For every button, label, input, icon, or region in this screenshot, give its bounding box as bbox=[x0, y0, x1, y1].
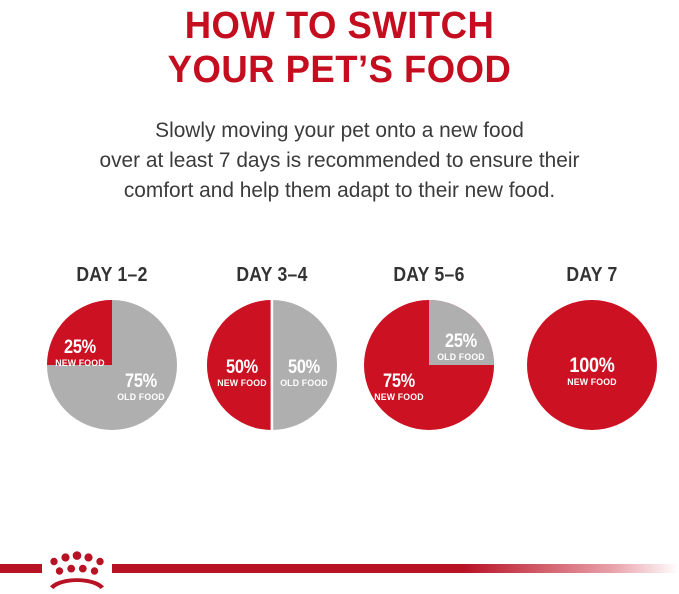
day-label-3: DAY 5–6 bbox=[359, 262, 500, 288]
pie-chart-day-5-6: 25% OLD FOOD 75% NEW FOOD bbox=[364, 300, 494, 430]
pie-chart-day-7: 100% NEW FOOD bbox=[527, 300, 657, 430]
day-label-1: DAY 1–2 bbox=[42, 262, 183, 288]
intro-line-1: Slowly moving your pet onto a new food bbox=[10, 115, 669, 145]
transition-schedule-chart-row: DAY 1–2 25% NEW FOOD 75% OLD FOOD DAY 3–… bbox=[0, 262, 679, 442]
intro-paragraph: Slowly moving your pet onto a new food o… bbox=[10, 115, 669, 205]
pie-chart-day-1-2: 25% NEW FOOD 75% OLD FOOD bbox=[47, 300, 177, 430]
footer-rule-right bbox=[112, 564, 679, 573]
page-title-line-1: HOW TO SWITCH bbox=[185, 5, 495, 47]
intro-line-3: comfort and help them adapt to their new… bbox=[10, 175, 669, 205]
pie-group-day-1-2: DAY 1–2 25% NEW FOOD 75% OLD FOOD bbox=[32, 262, 192, 430]
pie-chart-day-3-4: 50% NEW FOOD 50% OLD FOOD bbox=[207, 300, 337, 430]
slice-new-food bbox=[207, 300, 272, 430]
day-label-4: DAY 7 bbox=[522, 262, 663, 288]
slice-old-food bbox=[429, 300, 494, 365]
footer-rule-left bbox=[0, 564, 42, 573]
crown-logo-svg bbox=[44, 546, 110, 590]
pie-svg-day-3-4 bbox=[207, 300, 337, 430]
slice-new-food bbox=[47, 300, 112, 365]
pie-group-day-3-4: DAY 3–4 50% NEW FOOD 50% OLD FOOD bbox=[192, 262, 352, 430]
page-title: HOW TO SWITCH YOUR PET’S FOOD bbox=[14, 4, 666, 92]
intro-line-2: over at least 7 days is recommended to e… bbox=[10, 145, 669, 175]
footer bbox=[0, 542, 679, 594]
slice-divider bbox=[271, 300, 274, 430]
pie-svg-day-7 bbox=[527, 300, 657, 430]
page-title-line-2: YOUR PET’S FOOD bbox=[14, 48, 666, 92]
royal-canin-crown-icon bbox=[44, 546, 110, 590]
pie-group-day-5-6: DAY 5–6 25% OLD FOOD 75% NEW FOOD bbox=[349, 262, 509, 430]
pie-group-day-7: DAY 7 100% NEW FOOD bbox=[512, 262, 672, 430]
pie-svg-day-5-6 bbox=[364, 300, 494, 430]
pie-svg-day-1-2 bbox=[47, 300, 177, 430]
slice-new-food bbox=[527, 300, 657, 430]
day-label-2: DAY 3–4 bbox=[202, 262, 343, 288]
